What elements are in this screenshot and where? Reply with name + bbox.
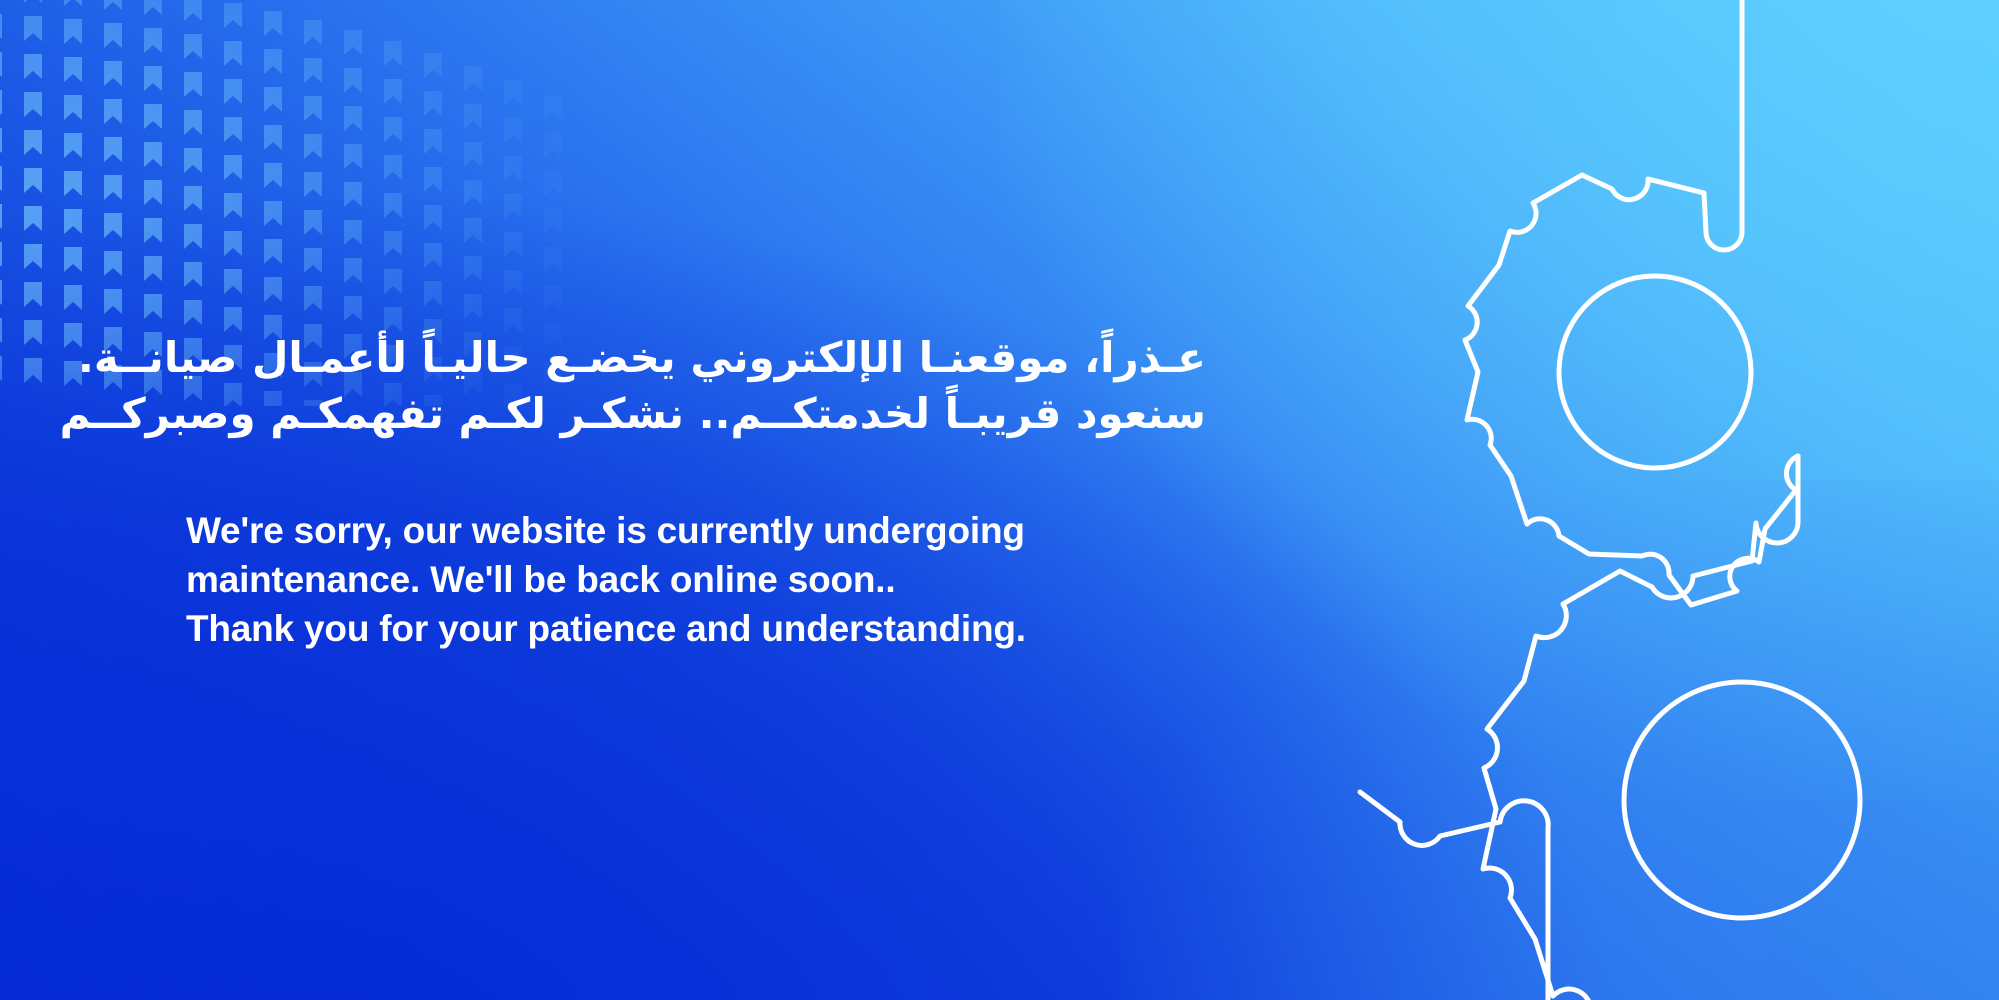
english-line-1: We're sorry, our website is currently un… [186,506,1206,555]
stem-bottom-curve [1500,801,1548,1000]
maintenance-page: عـذراً، موقعنـا الإلكتروني يخضـع حاليـاً… [0,0,1999,1000]
english-line-2: maintenance. We'll be back online soon.. [186,555,1206,604]
gear-large-bottom-edge [1360,792,1400,822]
english-line-3: Thank you for your patience and understa… [186,604,1206,653]
gear-large-bottom-teeth [1400,822,1500,845]
gear-large-outline [1483,521,1798,1000]
gear-paths [1360,0,1860,1000]
maintenance-message: عـذراً، موقعنـا الإلكتروني يخضـع حاليـاً… [186,330,1206,653]
gradient-tint-bottom-right [1119,480,1999,1000]
gear-small-hub-circle [1559,276,1751,468]
english-message: We're sorry, our website is currently un… [186,506,1206,654]
gear-large-hub-circle [1624,682,1860,918]
gear-small-outline [1465,175,1798,605]
arabic-line-1: عـذراً، موقعنـا الإلكتروني يخضـع حاليـاً… [186,330,1206,386]
arabic-message: عـذراً، موقعنـا الإلكتروني يخضـع حاليـاً… [186,330,1206,442]
arabic-line-2: سنعود قريبـاً لخدمتكــم.. نشكـر لكـم تفه… [186,386,1206,442]
